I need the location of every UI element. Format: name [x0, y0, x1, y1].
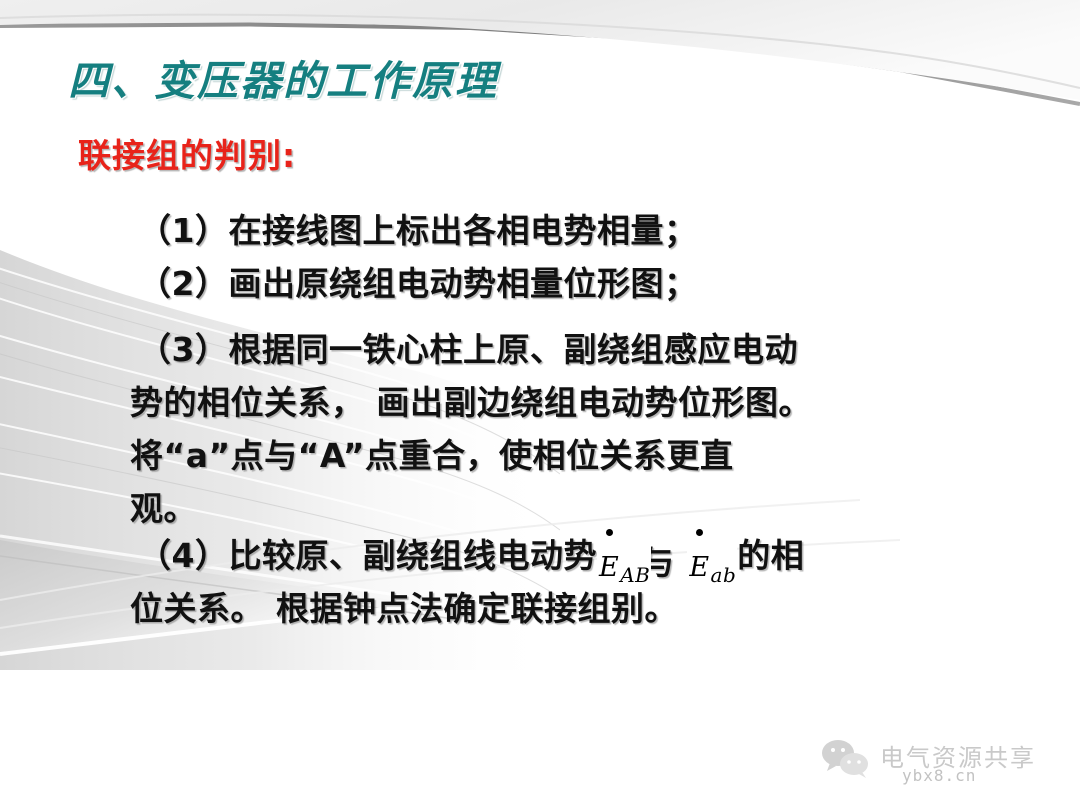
list-item-step-2: （2）画出原绕组电动势相量位形图；	[138, 257, 697, 305]
phasor-dot-icon	[696, 529, 703, 536]
wechat-icon	[818, 737, 874, 779]
list-item-step-1: （1）在接线图上标出各相电势相量；	[138, 204, 697, 252]
section-heading: 联接组的判别:	[78, 129, 296, 177]
emf-primary-label: 与EABEab	[597, 536, 737, 575]
presentation-slide: 四、变压器的工作原理 联接组的判别: （1）在接线图上标出各相电势相量； （2）…	[0, 0, 1080, 810]
emf-secondary-subscript: ab	[711, 563, 737, 587]
emf-secondary-symbol: E	[689, 552, 709, 583]
watermark-url: ybx8.cn	[902, 766, 976, 785]
list-item-step-4-line-2: 位关系。 根据钟点法确定联接组别。	[130, 582, 678, 630]
list-item-step-3-line-1: （3）根据同一铁心柱上原、副绕组感应电动	[138, 323, 798, 371]
list-item-step-3-line-4: 观。	[130, 482, 197, 530]
phasor-dot-icon	[606, 529, 613, 536]
emf-primary-subscript: AB	[620, 563, 650, 587]
list-item-step-3-line-2: 势的相位关系， 画出副边绕组电动势位形图。	[130, 376, 812, 424]
watermark: 电气资源共享 ybx8.cn	[818, 735, 1068, 797]
list-item-step-4-line-1: （4）比较原、副绕组线电动势与EABEab的相	[138, 529, 804, 577]
emf-primary-symbol: E	[599, 552, 619, 583]
list-item-step-3-line-3: 将“a”点与“A”点重合，使相位关系更直	[130, 429, 734, 477]
page-title: 四、变压器的工作原理	[68, 47, 498, 107]
step-4-text-before: （4）比较原、副绕组线电动势	[138, 536, 597, 575]
step-4-text-after: 的相	[737, 536, 804, 575]
